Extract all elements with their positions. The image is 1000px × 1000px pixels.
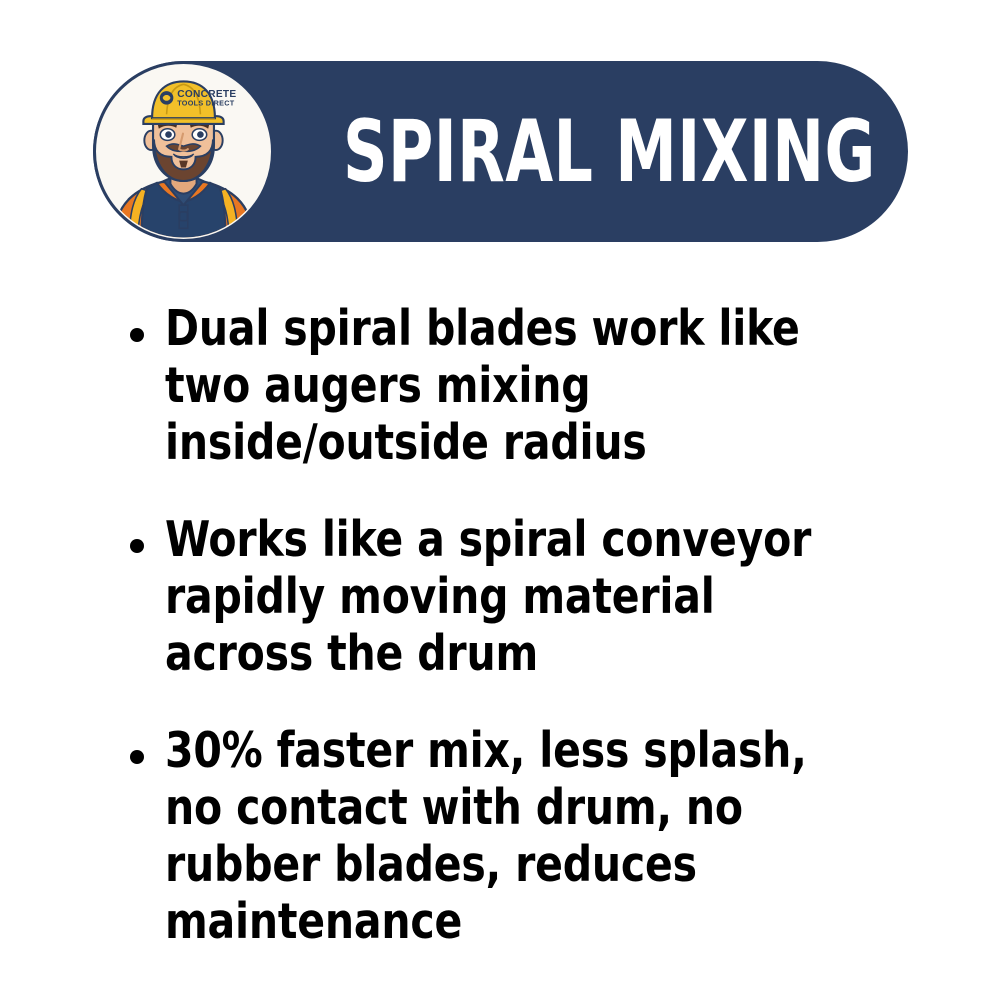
svg-text:TOOLS DIRECT: TOOLS DIRECT (177, 99, 235, 108)
feature-bullet-list: Dual spiral blades work like two augers … (130, 300, 890, 950)
list-item: Dual spiral blades work like two augers … (130, 300, 890, 471)
list-item: Works like a spiral conveyor rapidly mov… (130, 511, 890, 682)
bullet-text: Works like a spiral conveyor rapidly mov… (165, 511, 839, 682)
worker-avatar-illustration: CONCRETE TOOLS DIRECT (96, 64, 271, 239)
avatar: CONCRETE TOOLS DIRECT (93, 61, 274, 242)
page-title: SPIRAL MIXING (343, 61, 876, 242)
bullet-dot-icon (130, 328, 144, 342)
bullet-dot-icon (130, 750, 144, 764)
bullet-text: 30% faster mix, less splash, no contact … (165, 722, 839, 950)
list-item: 30% faster mix, less splash, no contact … (130, 722, 890, 950)
bullet-dot-icon (130, 539, 144, 553)
bullet-text: Dual spiral blades work like two augers … (165, 300, 839, 471)
info-card: SPIRAL MIXING (0, 0, 1000, 1000)
